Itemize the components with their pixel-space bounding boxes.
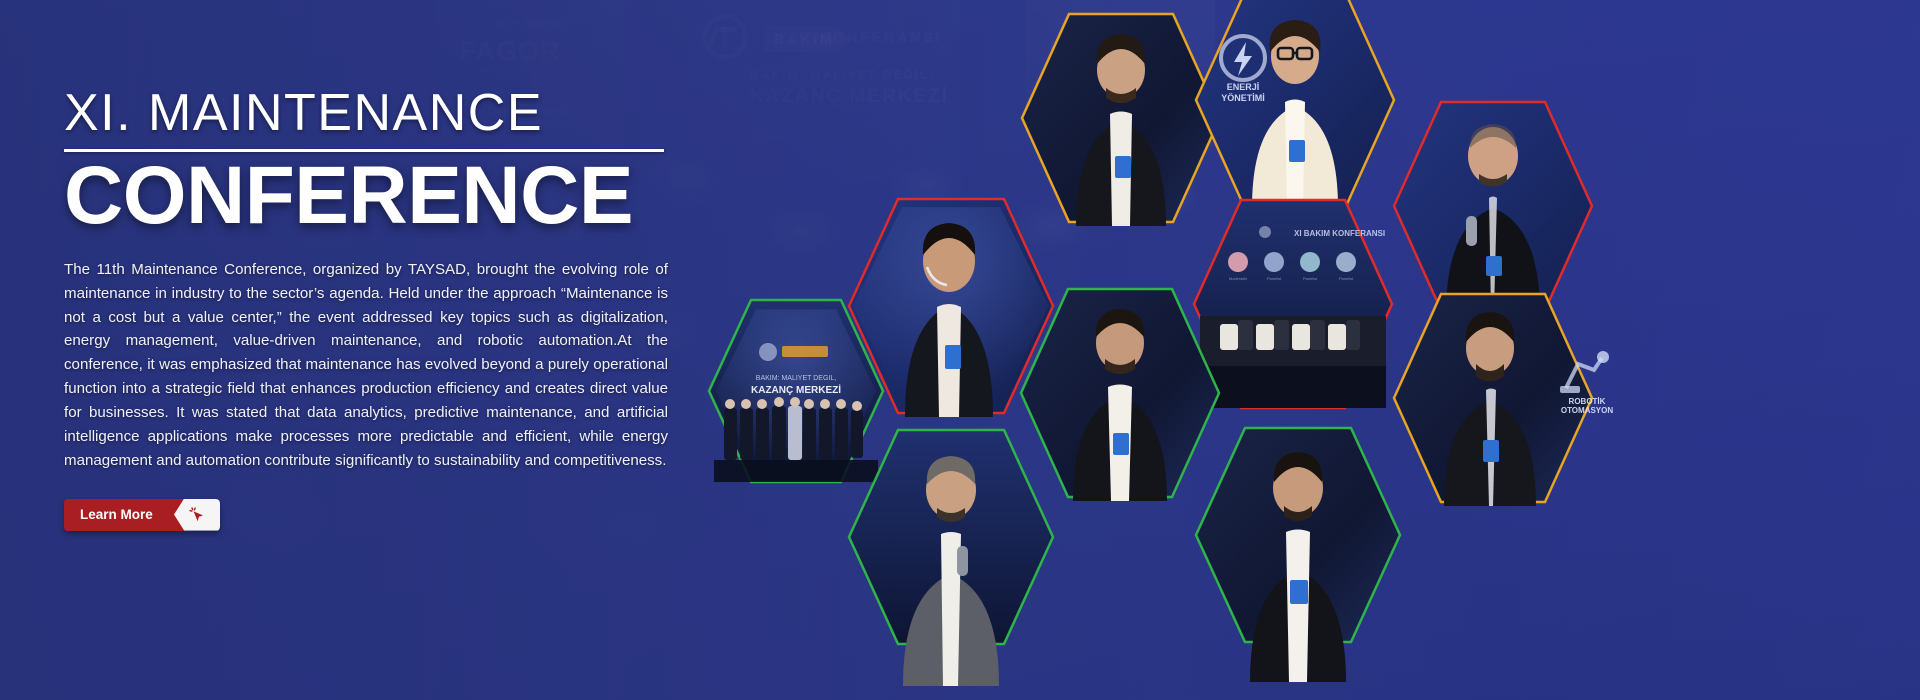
svg-text:XI BAKIM KONFERANSI: XI BAKIM KONFERANSI (1294, 229, 1385, 238)
hex-speaker-bald-mic[interactable] (1390, 98, 1596, 314)
svg-text:Panelist: Panelist (1267, 276, 1282, 281)
svg-text:Moderatör: Moderatör (1229, 276, 1248, 281)
svg-text:Panelist: Panelist (1303, 276, 1318, 281)
hex-speaker-grey-suit[interactable] (845, 386, 1057, 686)
page-eyebrow: XI. MAINTENANCE (64, 86, 668, 141)
hero-content: XI. MAINTENANCE CONFERENCE The 11th Main… (64, 86, 668, 531)
svg-text:Panelist: Panelist (1339, 276, 1354, 281)
hero-description: The 11th Maintenance Conference, organiz… (64, 258, 668, 473)
svg-text:ENERJİ: ENERJİ (1227, 82, 1260, 92)
conference-hero-banner: BAKIM KONFERANSI BAKIM: MALİYET DEĞİL, K… (0, 0, 1920, 700)
svg-text:OTOMASYON: OTOMASYON (1561, 406, 1614, 415)
hex-speaker-lanyard[interactable] (1192, 382, 1404, 682)
robotic-automation-icon: ROBOTİK OTOMASYON (1548, 342, 1626, 414)
page-title: CONFERENCE (64, 156, 668, 236)
svg-text:KAZANÇ MERKEZİ: KAZANÇ MERKEZİ (751, 383, 841, 396)
svg-text:ROBOTİK: ROBOTİK (1569, 397, 1606, 406)
energy-management-icon: ENERJİ YÖNETİMİ (1200, 26, 1286, 106)
learn-more-label: Learn More (64, 499, 186, 531)
svg-text:BAKIM: MALIYET DEGIL,: BAKIM: MALIYET DEGIL, (756, 375, 836, 382)
learn-more-button[interactable]: Learn More (64, 499, 220, 531)
svg-text:YÖNETİMİ: YÖNETİMİ (1221, 93, 1265, 103)
